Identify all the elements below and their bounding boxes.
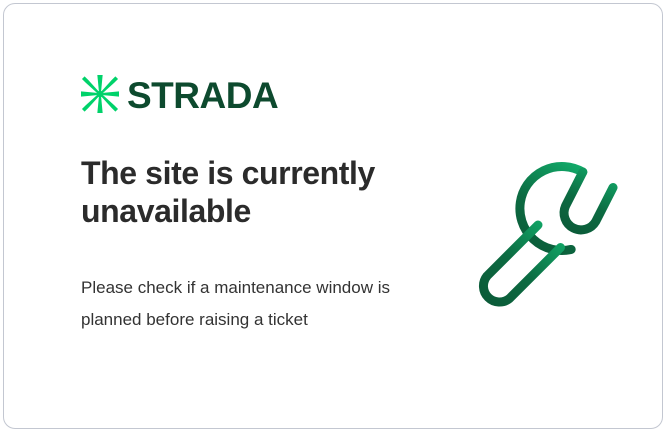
- error-page: STRADA The site is currently unavailable…: [0, 0, 666, 436]
- asterisk-snowflake-icon: [81, 75, 119, 113]
- brand-logo: STRADA: [81, 72, 278, 116]
- brand-wordmark: STRADA: [127, 77, 278, 114]
- page-description: Please check if a maintenance window is …: [81, 272, 391, 336]
- page-title: The site is currently unavailable: [81, 154, 421, 230]
- content-column: STRADA The site is currently unavailable…: [81, 4, 481, 428]
- status-card: STRADA The site is currently unavailable…: [3, 3, 663, 429]
- wrench-illustration: [464, 154, 624, 314]
